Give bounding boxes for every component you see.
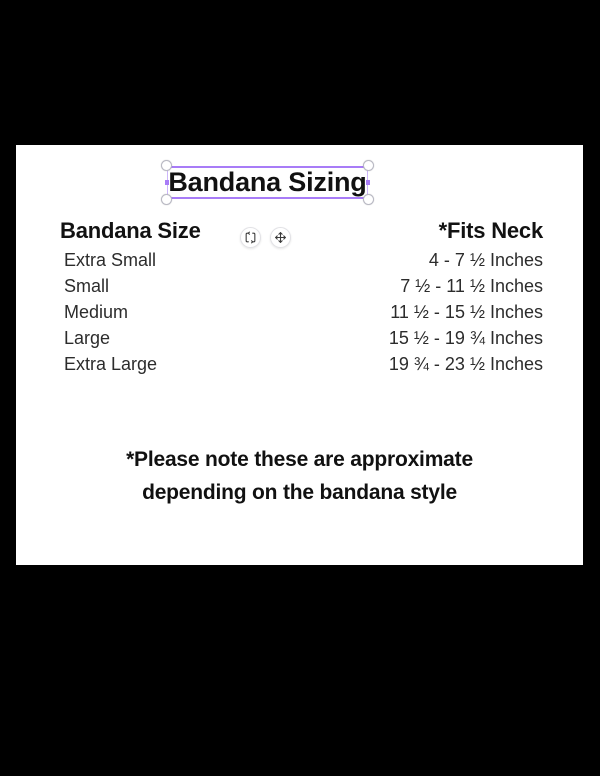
- resize-handle-middle-left[interactable]: [165, 180, 169, 185]
- cell-size: Medium: [60, 300, 128, 325]
- table-row: Large 15 ½ - 19 ¾ Inches: [60, 326, 543, 351]
- cell-size: Large: [60, 326, 110, 351]
- column-header-neck: *Fits Neck: [439, 218, 543, 244]
- title-textbox[interactable]: Bandana Sizing: [167, 166, 368, 199]
- cell-neck: 7 ½ - 11 ½ Inches: [400, 274, 543, 299]
- cell-neck: 4 - 7 ½ Inches: [429, 248, 543, 273]
- cell-size: Extra Small: [60, 248, 156, 273]
- cell-size: Extra Large: [60, 352, 157, 377]
- table-body: Extra Small 4 - 7 ½ Inches Small 7 ½ - 1…: [60, 248, 543, 377]
- page-title: Bandana Sizing: [167, 166, 368, 199]
- cell-neck: 19 ¾ - 23 ½ Inches: [389, 352, 543, 377]
- slide-canvas[interactable]: Bandana Sizing: [16, 145, 583, 565]
- resize-handle-top-left[interactable]: [161, 160, 172, 171]
- cell-size: Small: [60, 274, 109, 299]
- resize-handle-bottom-right[interactable]: [363, 194, 374, 205]
- footnote-line-2: depending on the bandana style: [16, 476, 583, 509]
- table-row: Small 7 ½ - 11 ½ Inches: [60, 274, 543, 299]
- cell-neck: 15 ½ - 19 ¾ Inches: [389, 326, 543, 351]
- cell-neck: 11 ½ - 15 ½ Inches: [390, 300, 543, 325]
- resize-handle-top-right[interactable]: [363, 160, 374, 171]
- table-row: Extra Small 4 - 7 ½ Inches: [60, 248, 543, 273]
- table-header-row: Bandana Size *Fits Neck: [60, 218, 543, 244]
- resize-handle-bottom-left[interactable]: [161, 194, 172, 205]
- footnote-line-1: *Please note these are approximate: [16, 443, 583, 476]
- sizing-table: Bandana Size *Fits Neck Extra Small 4 - …: [60, 218, 543, 377]
- table-row: Medium 11 ½ - 15 ½ Inches: [60, 300, 543, 325]
- column-header-size: Bandana Size: [60, 218, 201, 244]
- table-row: Extra Large 19 ¾ - 23 ½ Inches: [60, 352, 543, 377]
- footnote: *Please note these are approximate depen…: [16, 443, 583, 509]
- resize-handle-middle-right[interactable]: [366, 180, 370, 185]
